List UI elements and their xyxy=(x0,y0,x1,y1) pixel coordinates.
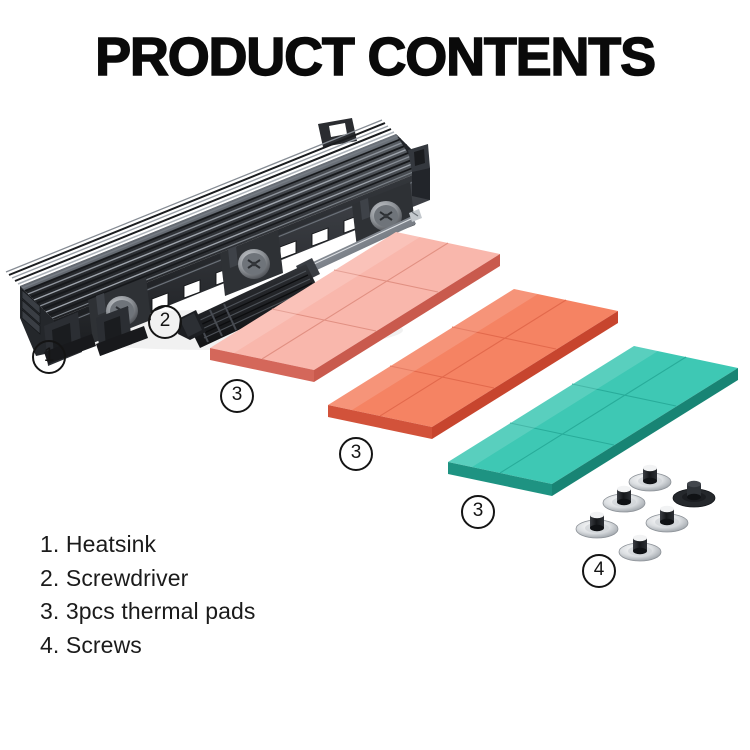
screws-graphic xyxy=(576,465,715,561)
legend-list: 1. Heatsink 2. Screwdriver 3. 3pcs therm… xyxy=(40,528,256,662)
legend-item-thermal-pads: 3. 3pcs thermal pads xyxy=(40,595,256,629)
infographic-canvas: PRODUCT CONTENTS xyxy=(0,0,750,750)
callout-3b: 3 xyxy=(339,437,373,471)
callout-2: 2 xyxy=(148,305,182,339)
callout-3c: 3 xyxy=(461,495,495,529)
screw-item xyxy=(576,512,618,538)
callout-3a: 3 xyxy=(220,379,254,413)
screw-item xyxy=(619,535,661,561)
legend-item-screwdriver: 2. Screwdriver xyxy=(40,562,256,596)
screw-item xyxy=(646,506,688,532)
callout-4: 4 xyxy=(582,554,616,588)
legend-item-heatsink: 1. Heatsink xyxy=(40,528,256,562)
screw-item xyxy=(629,465,671,491)
callout-1: 1 xyxy=(32,340,66,374)
screw-boss-icon xyxy=(238,249,270,279)
legend-item-screws: 4. Screws xyxy=(40,629,256,663)
screw-item xyxy=(673,481,715,507)
